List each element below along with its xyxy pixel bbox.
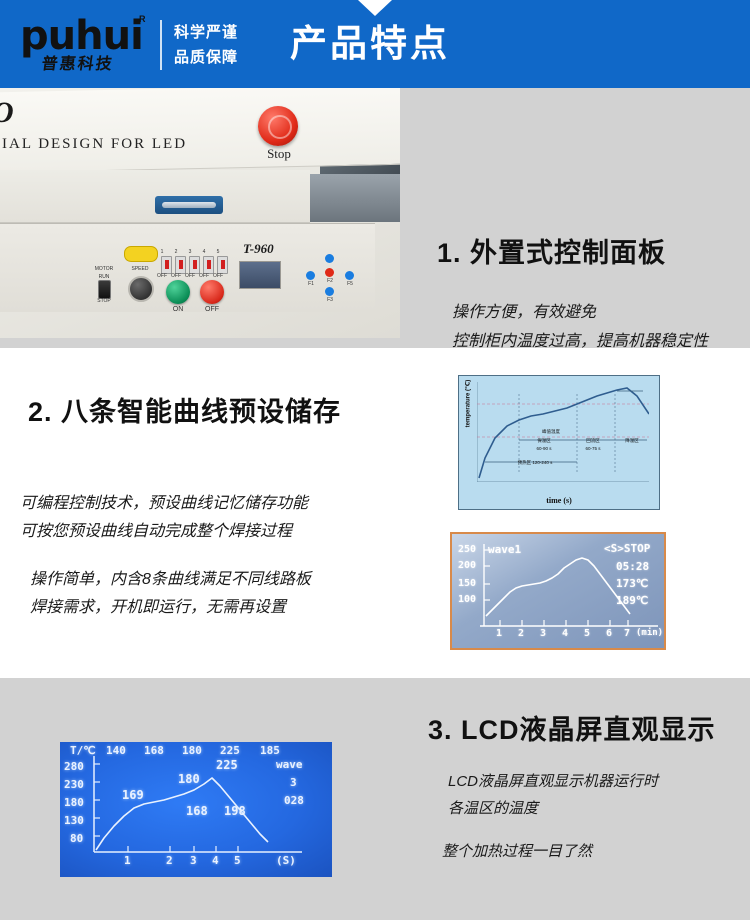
power-off-button[interactable] [200,280,224,304]
function-key-f1-label: F1 [303,281,319,287]
function-key-f5-label: F5 [342,281,358,287]
dip-switch-number-4: 4 [199,249,209,255]
dip-switch-number-3: 3 [185,249,195,255]
dip-off-label-2: OFF [170,273,182,279]
dip-switch-4[interactable] [203,256,214,274]
lcd-wave-x-tick-3: 3 [540,628,546,639]
speed-knob[interactable] [128,276,154,302]
section-3-body-a-line-1: LCD液晶屏直观显示机器运行时 [448,768,658,795]
machine-upper-housing [0,88,400,173]
chart-zone-soak-label: 保温区 [519,438,569,444]
dip-off-label-5: OFF [212,273,224,279]
lcd-temp-inline-value-3: 225 [216,758,238,772]
lcd-temp-y-tick-80: 80 [70,832,83,845]
page-header: puhui R 普惠科技 科学严谨 品质保障 产品特点 [0,0,750,88]
section-3-body-a: LCD液晶屏直观显示机器运行时 各温区的温度 [448,768,658,822]
dip-off-label-3: OFF [184,273,196,279]
lcd-wave-y-tick-200: 200 [458,560,476,571]
lcd-temp-inline-value-5: 198 [224,804,246,818]
lcd-temp-header-label: T/℃ [70,744,96,757]
lcd-temp-header-value-2: 168 [144,744,164,757]
dip-switch-number-1: 1 [157,249,167,255]
section-2-body-a: 可编程控制技术，预设曲线记忆储存功能 可按您预设曲线自动完成整个焊接过程 [20,490,308,546]
function-key-f3[interactable] [325,287,334,296]
lcd-wave-x-tick-5: 5 [584,628,590,639]
lcd-temp-x-tick-1: 1 [124,854,131,867]
lcd-temp-y-tick-230: 230 [64,778,84,791]
section-3-body-b-line-1: 整个加热过程一目了然 [442,838,592,865]
section-2-body-b-line-2: 焊接需求，开机即运行，无需再设置 [30,594,311,622]
lcd-wave-label: wave1 [488,543,521,556]
lcd-wave-y-tick-150: 150 [458,578,476,589]
function-key-f2[interactable] [325,268,334,277]
lcd-temp-wave-label: wave [276,758,303,771]
lcd-temp-x-tick-4: 4 [212,854,219,867]
section-1-body-line-1: 操作方便，有效避免 [452,298,708,327]
dip-switch-5[interactable] [217,256,228,274]
lcd-wave-x-tick-7: 7 [624,628,630,639]
dip-switch-1[interactable] [161,256,172,274]
lcd-wave-x-tick-6: 6 [606,628,612,639]
product-feature-page: puhui R 普惠科技 科学严谨 品质保障 产品特点 O CIAL DESIG… [0,0,750,920]
section-2-body-a-line-1: 可编程控制技术，预设曲线记忆储存功能 [20,490,308,518]
chart-zone-reflow-duration: 60-75 s [572,446,614,451]
lcd-temp-header-value-5: 185 [260,744,280,757]
dip-off-label-1: OFF [156,273,168,279]
warning-sticker [124,246,158,262]
lcd-temp-x-tick-5: 5 [234,854,241,867]
section-2-body-b: 操作简单，内含8条曲线满足不同线路板 焊接需求，开机即运行，无需再设置 [30,566,311,622]
machine-photo: O CIAL DESIGN FOR LED Stop MOTOR RUN STO… [0,88,400,338]
lcd-wave-x-tick-1: 1 [496,628,502,639]
dip-off-label-4: OFF [198,273,210,279]
brand-logo: puhui R 普惠科技 科学严谨 品质保障 [14,14,264,76]
chart-zone-soak-duration: 60-90 s [519,446,569,451]
lcd-temperature-display: T/℃ 140 168 180 225 185 280 230 180 130 … [60,742,332,877]
lcd-temp-y-tick-280: 280 [64,760,84,773]
emergency-stop-label: Stop [256,146,302,162]
lcd-temp-inline-value-4: 168 [186,804,208,818]
machine-model-label: T-960 [243,241,274,257]
lcd-wave-temp-1: 173℃ [616,577,648,590]
logo-chinese-name: 普惠科技 [40,50,115,74]
lcd-temp-wave-code: 028 [284,794,304,807]
slogan-line-1: 科学严谨 [174,20,238,45]
section-1-title: 1. 外置式控制面板 [437,231,666,270]
power-off-label: OFF [198,306,226,313]
lcd-wave-display: 250 200 150 100 wave1 <S>STOP 05:28 173℃… [450,532,666,650]
machine-door-handle[interactable] [155,196,223,214]
lcd-wave-y-tick-100: 100 [458,594,476,605]
lcd-wave-status: <S>STOP [604,542,650,555]
lcd-temp-inline-value-2: 180 [178,772,200,786]
lcd-temp-y-tick-130: 130 [64,814,84,827]
motor-stop-label: STOP [92,298,116,304]
slogan-line-2: 品质保障 [174,45,238,70]
reflow-profile-chart: temperature (℃) 峰值温度 保温区 60-90 s 回流区 60 [458,375,660,510]
registered-trademark-icon: R [139,14,146,24]
lcd-wave-elapsed-time: 05:28 [616,560,649,573]
lcd-temp-x-tick-3: 3 [190,854,197,867]
lcd-wave-x-tick-4: 4 [562,628,568,639]
chart-annotation-peak: 峰值温度 [531,429,571,435]
chart-zone-cooling-label: 降温区 [611,438,653,444]
lcd-wave-y-tick-250: 250 [458,544,476,555]
section-2-title: 2. 八条智能曲线预设储存 [28,390,341,429]
chart-y-axis-label: temperature (℃) [465,369,472,439]
emergency-stop-button[interactable] [258,106,298,146]
function-key-f5[interactable] [345,271,354,280]
chart-zone-reflow-label: 回流区 [572,438,614,444]
panel-lcd-screen [239,261,281,289]
lcd-temp-wave-number: 3 [290,776,297,789]
section-3-body-a-line-2: 各温区的温度 [448,795,658,822]
section-3-body-b: 整个加热过程一目了然 [442,838,592,865]
motor-label: MOTOR [88,266,120,272]
dip-switch-3[interactable] [189,256,200,274]
section-2-body-a-line-2: 可按您预设曲线自动完成整个焊接过程 [20,518,308,546]
lcd-wave-temp-2: 189℃ [616,594,648,607]
motor-toggle-switch[interactable] [98,280,111,299]
lcd-temp-y-tick-180: 180 [64,796,84,809]
dip-switch-number-2: 2 [171,249,181,255]
logo-divider [160,20,162,70]
lcd-temp-header-value-4: 225 [220,744,240,757]
speed-label: SPEED [123,266,157,272]
lcd-wave-x-tick-2: 2 [518,628,524,639]
function-key-f2-label: F2 [322,278,338,284]
brand-slogan: 科学严谨 品质保障 [174,20,238,70]
lcd-temp-header-value-3: 180 [182,744,202,757]
dip-switch-number-5: 5 [213,249,223,255]
power-on-label: ON [166,306,190,313]
section-1-external-control-panel: O CIAL DESIGN FOR LED Stop MOTOR RUN STO… [0,88,750,348]
function-key-f3-label: F3 [322,297,338,303]
machine-brand-text: O [0,96,14,130]
function-key-f4[interactable] [325,254,334,263]
lcd-temp-header-value-1: 140 [106,744,126,757]
power-on-button[interactable] [166,280,190,304]
chart-zone-preheat-label: 预热区 120-240 s [495,460,575,466]
machine-tagline: CIAL DESIGN FOR LED [0,136,187,153]
lcd-wave-x-unit: (min) [636,628,663,638]
function-key-f1[interactable] [306,271,315,280]
lcd-temp-inline-value-1: 169 [122,788,144,802]
dip-switch-2[interactable] [175,256,186,274]
page-title: 产品特点 [290,14,450,74]
lcd-temp-x-unit: (S) [276,854,296,867]
machine-photo-background-lower [296,174,400,222]
chart-x-axis-label: time (s) [459,496,659,505]
lcd-temp-x-tick-2: 2 [166,854,173,867]
section-2-body-b-line-1: 操作简单，内含8条曲线满足不同线路板 [30,566,311,594]
section-3-title: 3. LCD液晶屏直观显示 [428,708,716,747]
